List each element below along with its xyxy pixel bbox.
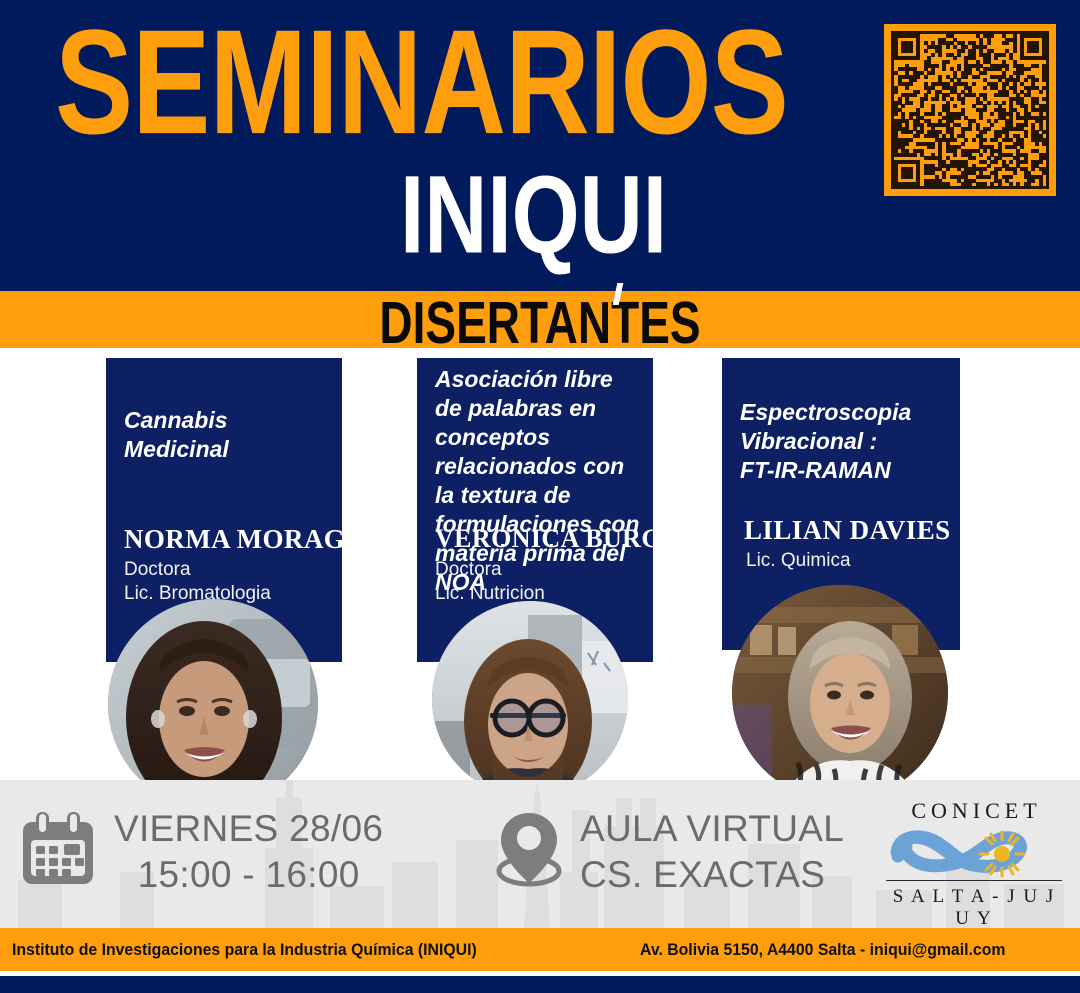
poster-header: SEMINARIOS INIQUI: [0, 0, 1080, 291]
place-row: AULA VIRTUAL CS. EXACTAS: [492, 806, 844, 897]
qr-code[interactable]: [884, 24, 1056, 196]
date-line-2: 15:00 - 16:00: [114, 852, 383, 898]
speaker-topic-3: Espectroscopia Vibracional : FT-IR-RAMAN: [740, 398, 948, 485]
date-row: VIERNES 28/06 15:00 - 16:00: [20, 806, 383, 897]
speaker-role-3-line1: Lic. Quimica: [746, 549, 952, 573]
conicet-logo: CONICET S A L T A - J U J: [884, 798, 1064, 910]
date-text: VIERNES 28/06 15:00 - 16:00: [114, 806, 383, 897]
speaker-role-2-line1: Doctora: [435, 558, 645, 582]
footer-institute: Instituto de Investigaciones para la Ind…: [12, 928, 477, 971]
speaker-photo-2: [432, 601, 628, 797]
speaker-topic-1: Cannabis Medicinal: [124, 406, 330, 464]
place-line-1: AULA VIRTUAL: [580, 808, 844, 849]
speaker-photo-3: [732, 585, 948, 801]
footer-navy-strip: [0, 976, 1080, 993]
footer-contact: Av. Bolivia 5150, A4400 Salta - iniqui@g…: [640, 928, 1005, 971]
conicet-divider: [886, 880, 1062, 881]
speaker-name-1: NORMA MORAGA: [124, 525, 334, 555]
page-title: SEMINARIOS: [55, 8, 706, 157]
disertantes-band: DISERTANTES: [0, 291, 1080, 348]
speakers-section: Cannabis Medicinal NORMA MORAGA Doctora …: [0, 348, 1080, 780]
map-pin-icon: [492, 809, 566, 894]
info-bar: VIERNES 28/06 15:00 - 16:00 AULA VIRTUAL…: [0, 780, 1080, 928]
speaker-role-1-line1: Doctora: [124, 558, 334, 582]
footer-bar: Instituto de Investigaciones para la Ind…: [0, 928, 1080, 971]
speaker-photo-1: [108, 599, 318, 809]
page-subtitle: INIQUI: [400, 160, 875, 270]
qr-code-modules: [891, 31, 1049, 189]
calendar-icon: [20, 810, 96, 893]
conicet-infinity-icon: [884, 826, 1064, 878]
place-line-2: CS. EXACTAS: [580, 852, 844, 898]
place-text: AULA VIRTUAL CS. EXACTAS: [580, 806, 844, 897]
speaker-name-2: VERONICA BURGOS: [435, 525, 645, 554]
speaker-name-3: LILIAN DAVIES: [744, 516, 952, 546]
date-line-1: VIERNES 28/06: [114, 808, 383, 849]
conicet-subtitle: S A L T A - J U J U Y: [884, 886, 1064, 928]
conicet-title: CONICET: [884, 798, 1064, 824]
poster: SEMINARIOS INIQUI DISERTANTES Cannabis M…: [0, 0, 1080, 993]
